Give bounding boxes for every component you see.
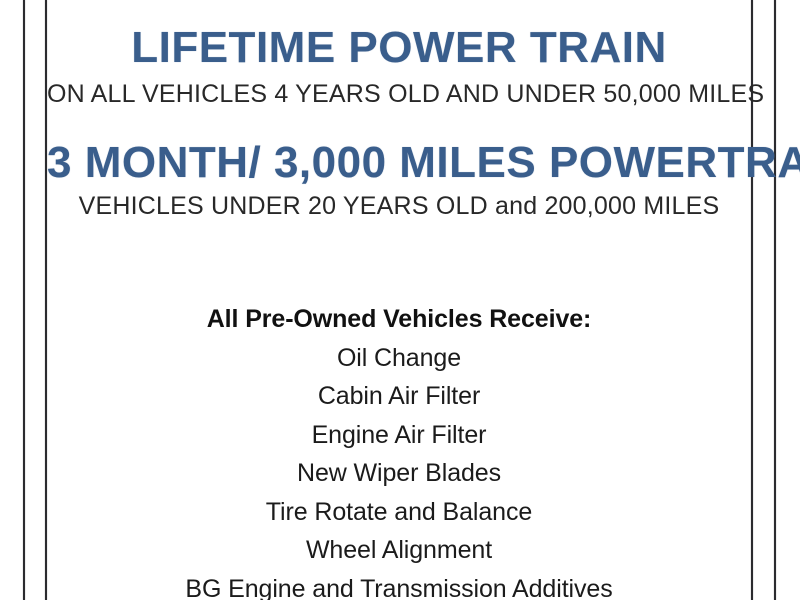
services-heading: All Pre-Owned Vehicles Receive:	[47, 300, 751, 339]
warranty-headline-lifetime-powertrain: LIFETIME POWER TRAIN	[47, 26, 751, 70]
frame-rule-left-outer	[23, 0, 25, 600]
service-list-item: Engine Air Filter	[47, 416, 751, 455]
warranty-headline-text: LIFETIME POWER TRAIN	[131, 23, 667, 72]
service-list-item: Tire Rotate and Balance	[47, 493, 751, 532]
service-list-item: Oil Change	[47, 339, 751, 378]
service-list-item: Cabin Air Filter	[47, 377, 751, 416]
service-list-item: New Wiper Blades	[47, 454, 751, 493]
flyer-content: LIFETIME POWER TRAIN ON ALL VEHICLES 4 Y…	[47, 0, 751, 600]
services-section: All Pre-Owned Vehicles Receive: Oil Chan…	[47, 300, 751, 600]
service-list-item: Wheel Alignment	[47, 531, 751, 570]
warranty-headline-3-month-powertrain: 3 MONTH/ 3,000 MILES POWERTRAIN	[47, 141, 751, 185]
warranty-subtitle-text: ON ALL VEHICLES 4 YEARS OLD AND UNDER 50…	[47, 80, 764, 108]
frame-rule-right-outer	[774, 0, 776, 600]
warranty-flyer: LIFETIME POWER TRAIN ON ALL VEHICLES 4 Y…	[0, 0, 800, 600]
warranty-subtitle-text: VEHICLES UNDER 20 YEARS OLD and 200,000 …	[79, 192, 720, 220]
warranty-headline-text: 3 MONTH/ 3,000 MILES POWERTRAIN	[47, 138, 800, 187]
service-list-item: BG Engine and Transmission Additives	[47, 570, 751, 600]
warranty-subtitle-3-month-powertrain: VEHICLES UNDER 20 YEARS OLD and 200,000 …	[47, 194, 751, 219]
warranty-subtitle-lifetime-powertrain: ON ALL VEHICLES 4 YEARS OLD AND UNDER 50…	[47, 82, 751, 107]
